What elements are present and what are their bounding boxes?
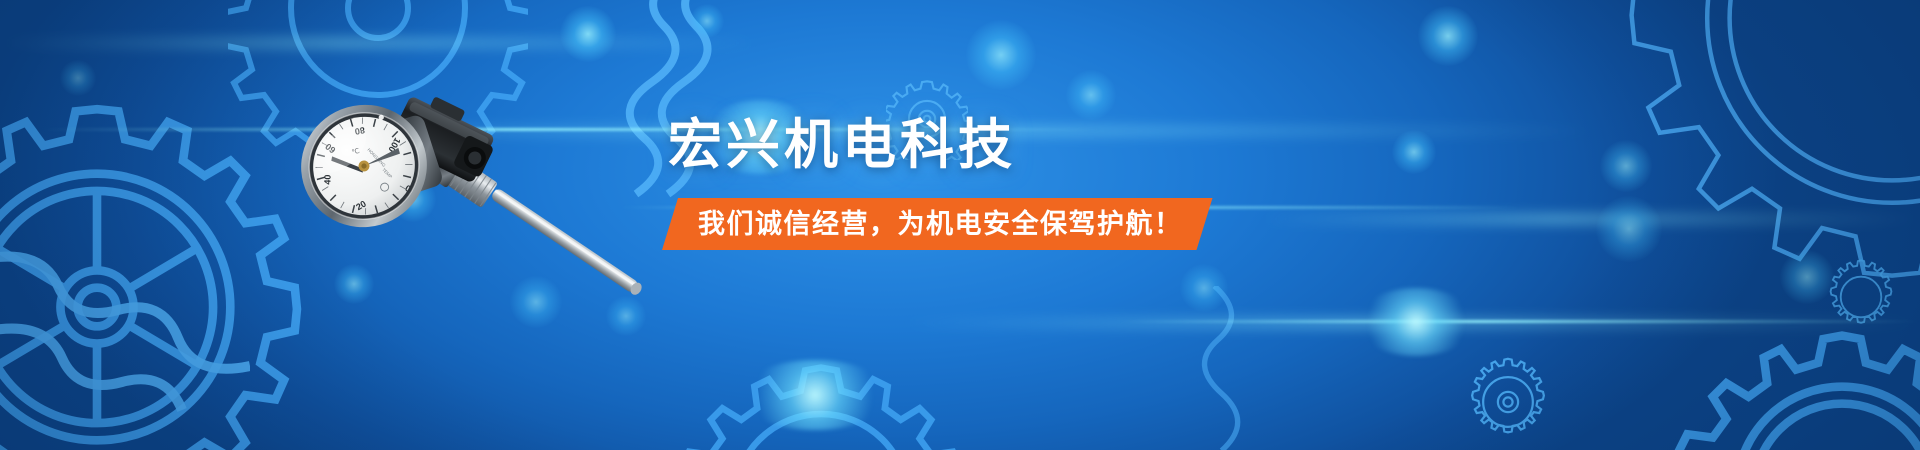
banner-title: 宏兴机电科技 — [668, 118, 1213, 172]
banner-text-block: 宏兴机电科技 我们诚信经营，为机电安全保驾护航！ — [668, 118, 1213, 250]
tagline-badge: 我们诚信经营，为机电安全保驾护航！ — [662, 198, 1213, 250]
product-image-thermometer: 0 20 40 60 80 100 ℃ HONGXING TEMP — [286, 78, 666, 308]
promo-banner: 0 20 40 60 80 100 ℃ HONGXING TEMP — [0, 0, 1920, 450]
svg-text:40: 40 — [322, 174, 332, 184]
banner-tagline: 我们诚信经营，为机电安全保驾护航！ — [662, 198, 1213, 250]
